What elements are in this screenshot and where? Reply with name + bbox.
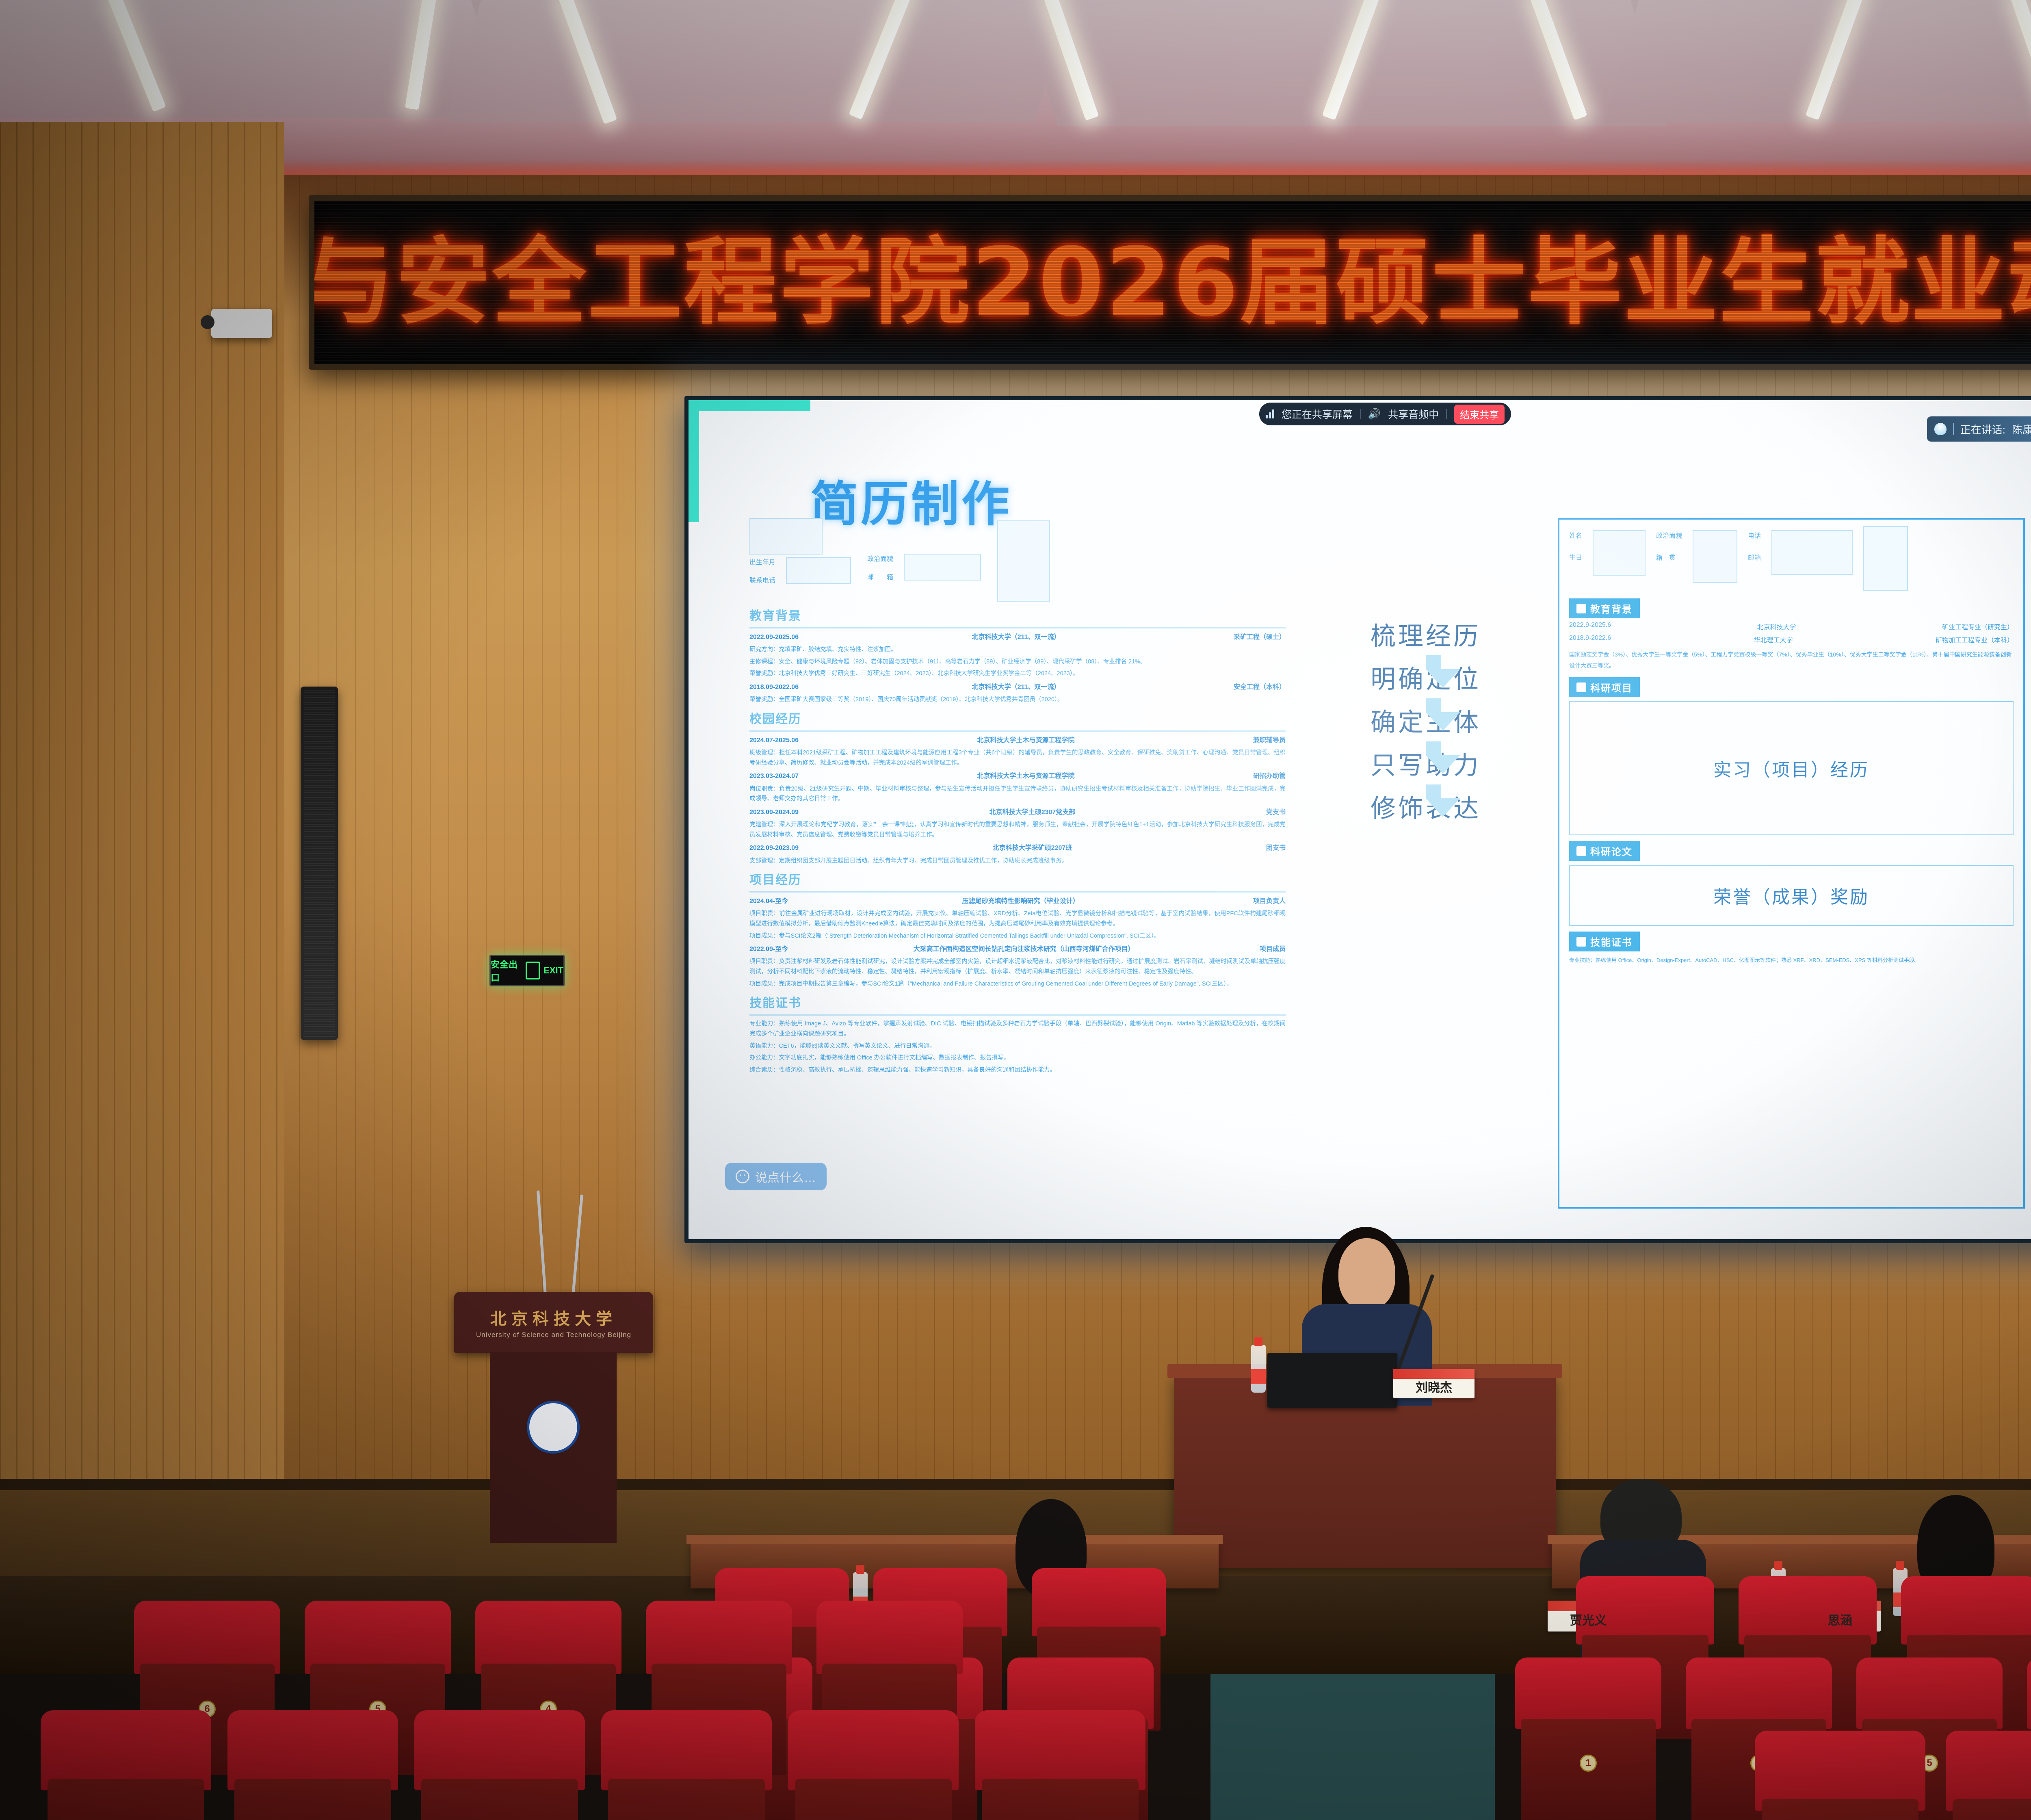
section-chip: 教育背景 xyxy=(1569,598,1640,618)
resume-left-document: 出生年月 联系电话 政治面貌 邮 箱 xyxy=(749,518,1286,1180)
section-chip: 科研项目 xyxy=(1569,677,1640,697)
section-chip-label: 技能证书 xyxy=(1590,934,1633,949)
avatar-icon xyxy=(1934,423,1947,435)
resume-entry-header: 2022.09-2023.09 北京科技大学采矿硕2207班 团支书 xyxy=(749,843,1286,854)
rule xyxy=(749,1014,1286,1016)
field-label: 电话 xyxy=(1748,530,1761,540)
resume-entry-header: 2023.09-2024.09 北京科技大学土硕2307党支部 党支书 xyxy=(749,807,1286,818)
seat[interactable] xyxy=(1946,1731,2031,1820)
entry-date: 2023.03-2024.07 xyxy=(749,771,799,782)
entry-date: 2023.09-2024.09 xyxy=(749,807,799,818)
entry-role: 项目成员 xyxy=(1260,944,1286,955)
seat[interactable]: 6 xyxy=(975,1710,1145,1820)
resume-bullet: 综合素质：性格沉稳、高效执行、承压抗挫、逻辑思维能力强、能快速学习新知识，具备良… xyxy=(749,1065,1286,1075)
led-banner: 资源与安全工程学院2026届硕士毕业生就业动员会、家长会 xyxy=(309,195,2031,370)
field-box xyxy=(1593,530,1646,576)
resume-entry-header: 2024.07-2025.06 北京科技大学土木与资源工程学院 兼职辅导员 xyxy=(749,735,1286,746)
head xyxy=(1338,1238,1395,1310)
exit-sign: 安全出口 EXIT xyxy=(489,955,565,986)
slide-accent-bar xyxy=(689,400,699,522)
chat-placeholder: 说点什么… xyxy=(755,1168,816,1185)
entry-role: 党支书 xyxy=(1266,807,1286,818)
resume-bullet: 办公能力：文字功底扎实，能够熟练使用 Office 办公软件进行文档编写、数据报… xyxy=(749,1053,1286,1063)
resume-bullet: 项目成果：完成项目中期报告第三章编写，参与SCI论文1篇（"Mechanical… xyxy=(749,979,1286,989)
speaking-name: 陈康宁 xyxy=(2012,422,2031,437)
divider xyxy=(1953,423,1954,435)
entry-org: 北京科技大学土木与资源工程学院 xyxy=(799,735,1253,746)
resume-section-heading: 校园经历 xyxy=(749,709,1286,730)
university-logo xyxy=(527,1401,580,1454)
field-label: 邮箱 xyxy=(1748,552,1761,562)
resume-bullet: 党建管理：深入开展理论和党纪学习教育，落实"三会一课"制度，认真学习和宣传新时代… xyxy=(749,820,1286,840)
entry-org: 北京科技大学土硕2307党支部 xyxy=(799,807,1266,818)
entry-org: 北京科技大学（211、双一流） xyxy=(799,682,1234,693)
entry-org: 压滤尾砂充填特性影响研究（毕业设计） xyxy=(788,896,1253,907)
ceiling-panel xyxy=(446,0,1077,122)
certificate-icon xyxy=(1576,937,1586,947)
education-major: 矿业工程专业（研究生） xyxy=(1942,622,2014,631)
laptop xyxy=(1267,1353,1397,1408)
divider xyxy=(1446,409,1447,419)
led-banner-text: 资源与安全工程学院2026届硕士毕业生就业动员会、家长会 xyxy=(309,235,2031,329)
entry-date: 2022.09-2025.06 xyxy=(749,632,799,643)
education-row: 2022.9-2025.6 北京科技大学 矿业工程专业（研究生） xyxy=(1569,622,2014,631)
speaker-nameplate: 刘晓杰 xyxy=(1393,1369,1475,1398)
podium: 北京科技大学 University of Science and Technol… xyxy=(454,1292,653,1544)
resume-bullet: 班级管理：担任本科2021级采矿工程、矿物加工工程及建筑环境与能源应用工程3个专… xyxy=(749,748,1286,768)
field-box xyxy=(1693,530,1737,583)
podium-panel: 北京科技大学 University of Science and Technol… xyxy=(454,1292,653,1353)
field-label: 政治面貌 xyxy=(1656,530,1682,540)
resume-section-heading: 教育背景 xyxy=(749,606,1286,626)
placeholder-block: 实习（项目）经历 xyxy=(1569,701,2014,835)
field-box xyxy=(786,557,851,584)
entry-org: 北京科技大学（211、双一流） xyxy=(799,632,1234,643)
resume-bullet: 专业能力：熟练使用 Image J、Avizo 等专业软件，掌握声发射试验、DI… xyxy=(749,1019,1286,1039)
entry-date: 2022.09-2023.09 xyxy=(749,843,799,854)
security-camera-icon xyxy=(211,309,272,338)
resume-bullet: 英语能力：CET6，能够阅读英文文献、撰写英文论文、进行日常沟通。 xyxy=(749,1041,1286,1051)
resume-bullet: 主修课程：安全、健康与环境风险专题（92）、岩体加固与支护技术（91）、高等岩石… xyxy=(749,657,1286,667)
entry-role: 采矿工程（硕士） xyxy=(1234,632,1286,643)
skills-text: 专业技能：熟练使用 Office、Origin、Design-Expert、Au… xyxy=(1569,955,2014,966)
seat[interactable] xyxy=(414,1710,585,1820)
field-label: 联系电话 xyxy=(749,575,775,586)
screen-share-toolbar[interactable]: 您正在共享屏幕 🔊 共享音频中 结束共享 xyxy=(1259,403,1511,425)
entry-role: 项目负责人 xyxy=(1253,896,1286,907)
section-chip-label: 教育背景 xyxy=(1590,601,1633,615)
section-chip-label: 科研论文 xyxy=(1590,844,1633,858)
active-speaker-badge: 正在讲话: 陈康宁 xyxy=(1927,416,2031,442)
section-chip: 技能证书 xyxy=(1569,932,1640,951)
slide-accent-bar xyxy=(689,400,810,411)
speaker-icon: 🔊 xyxy=(1368,408,1381,420)
resume-bullet: 项目职责：前往金属矿业进行现场取材，设计并完成室内试验，开展充实仪、单轴压缩试验… xyxy=(749,909,1286,929)
entry-date: 2024.04-至今 xyxy=(749,896,788,907)
entry-role: 安全工程（本科） xyxy=(1234,682,1286,693)
podium-body xyxy=(490,1352,617,1543)
chat-input-pill[interactable]: 说点什么… xyxy=(725,1163,827,1190)
resume-bullet: 研究方向：充填采矿、胶结充填、充实特性、注浆加固。 xyxy=(749,645,1286,655)
exit-sign-cn: 安全出口 xyxy=(491,958,522,984)
photo-box xyxy=(1863,526,1908,591)
sharing-status-label: 您正在共享屏幕 xyxy=(1282,407,1353,421)
audience-desk-top xyxy=(686,1535,1223,1544)
field-label: 政治面貌 xyxy=(867,554,893,565)
rule xyxy=(749,730,1286,732)
slide-canvas: 您正在共享屏幕 🔊 共享音频中 结束共享 正在讲话: 陈康宁 简历制作 xyxy=(689,400,2031,1239)
resume-section-heading: 技能证书 xyxy=(749,993,1286,1014)
seat[interactable]: 5 xyxy=(788,1710,959,1820)
entry-date: 2022.09-至今 xyxy=(749,944,788,955)
field-label: 生日 xyxy=(1569,552,1582,562)
running-man-icon xyxy=(526,962,540,979)
emoji-icon[interactable] xyxy=(736,1170,749,1183)
entry-date: 2018.09-2022.06 xyxy=(749,682,799,693)
entry-org: 北京科技大学土木与资源工程学院 xyxy=(799,771,1253,782)
resume-right-template: 姓名 生日 政治面貌 籍 贯 电话 xyxy=(1558,518,2025,1209)
section-chip-label: 科研项目 xyxy=(1590,680,1633,694)
resume-entry-header: 2018.09-2022.06 北京科技大学（211、双一流） 安全工程（本科） xyxy=(749,682,1286,693)
education-major: 矿物加工工程专业（本科） xyxy=(1936,635,2014,644)
photo-box xyxy=(997,520,1050,602)
audience-name: 思涵 xyxy=(1828,1610,1852,1628)
awards-text: 国家励志奖学金（3%）、优秀大学生一等奖学金（5%）、工程力学竞赛校级一等奖（7… xyxy=(1569,649,2014,671)
lecture-hall-photo: 资源与安全工程学院2026届硕士毕业生就业动员会、家长会 安全出口 EXIT 您… xyxy=(0,0,2031,1820)
speaker-name: 刘晓杰 xyxy=(1416,1378,1452,1395)
resume-bullet: 岗位职责：负责20级、21级研究生开题、中期、毕业材料审核与整理，参与招生宣传活… xyxy=(749,784,1286,804)
resume-entry-header: 2022.09-至今 大采高工作面构造区空间长钻孔定向注浆技术研究（山西寺河煤矿… xyxy=(749,944,1286,955)
audience-name: 贾光义 xyxy=(1570,1610,1607,1628)
resume-entry-header: 2023.03-2024.07 北京科技大学土木与资源工程学院 研招办助管 xyxy=(749,771,1286,782)
resume-bullet: 荣誉奖励：全国采矿大赛国家级三等奖（2019）、国庆70周年活动贡献奖（2019… xyxy=(749,695,1286,705)
podium-university-en: University of Science and Technology Bei… xyxy=(476,1331,631,1339)
resume-entry-header: 2024.04-至今 压滤尾砂充填特性影响研究（毕业设计） 项目负责人 xyxy=(749,896,1286,907)
rule xyxy=(749,627,1286,628)
field-label: 姓名 xyxy=(1569,530,1582,540)
resume-bullet: 支部管理：定期组织团支部开展主题团日活动、组织青年大学习、完成日常团员管理及推优… xyxy=(749,856,1286,866)
graduation-cap-icon xyxy=(1576,604,1586,613)
section-chip: 科研论文 xyxy=(1569,841,1640,861)
projection-screen: 您正在共享屏幕 🔊 共享音频中 结束共享 正在讲话: 陈康宁 简历制作 xyxy=(684,396,2031,1243)
field-label: 邮 箱 xyxy=(867,572,893,583)
field-box xyxy=(749,518,823,555)
resume-bullet: 项目职责：负责注浆材料研发及岩石体性能测试研究，设计试验方案并完成全部室内实验，… xyxy=(749,957,1286,977)
wall-speaker xyxy=(301,687,338,1040)
clipboard-icon xyxy=(1576,682,1586,692)
entry-org: 北京科技大学采矿硕2207班 xyxy=(799,843,1266,854)
entry-role: 兼职辅导员 xyxy=(1253,735,1286,746)
education-date: 2018.9-2022.6 xyxy=(1569,635,1611,644)
divider xyxy=(1360,409,1361,419)
seat[interactable]: 1 xyxy=(1515,1657,1661,1820)
speaking-label: 正在讲话: xyxy=(1960,422,2005,437)
entry-date: 2024.07-2025.06 xyxy=(749,735,799,746)
seat[interactable] xyxy=(41,1710,211,1820)
entry-org: 大采高工作面构造区空间长钻孔定向注浆技术研究（山西寺河煤矿合作项目） xyxy=(788,944,1260,955)
entry-role: 团支书 xyxy=(1266,843,1286,854)
flow-step: 梳理经历 xyxy=(1338,615,1513,652)
education-school: 华北理工大学 xyxy=(1754,635,1793,644)
signal-bars-icon xyxy=(1266,409,1274,418)
rule xyxy=(749,891,1286,893)
podium-university-cn: 北京科技大学 xyxy=(490,1306,617,1329)
education-school: 北京科技大学 xyxy=(1757,622,1796,631)
resume-bullet: 项目成果：参与SCI论文2篇（"Strength Deterioration M… xyxy=(749,931,1286,941)
gear-icon xyxy=(1576,846,1586,856)
education-date: 2022.9-2025.6 xyxy=(1569,622,1611,631)
resume-entry-header: 2022.09-2025.06 北京科技大学（211、双一流） 采矿工程（硕士） xyxy=(749,632,1286,643)
field-label: 籍 贯 xyxy=(1656,552,1682,562)
seat[interactable]: 4 xyxy=(601,1710,772,1820)
resume-flow-diagram: 梳理经历 明确定位 确定主体 只写助力 修饰表达 xyxy=(1338,615,1513,824)
seat[interactable]: 1 xyxy=(1755,1731,1925,1820)
field-label: 出生年月 xyxy=(749,557,775,568)
placeholder-block: 荣誉（成果）奖励 xyxy=(1569,865,2014,926)
seat[interactable] xyxy=(227,1710,398,1820)
resume-section-heading: 项目经历 xyxy=(749,870,1286,890)
resume-bullet: 荣誉奖励：北京科技大学优秀三好研究生、三好研究生（2024、2023）、北京科技… xyxy=(749,669,1286,679)
exit-sign-en: EXIT xyxy=(543,965,563,976)
field-box xyxy=(904,554,981,581)
entry-role: 研招办助管 xyxy=(1253,771,1286,782)
end-share-button[interactable]: 结束共享 xyxy=(1454,405,1505,424)
center-aisle xyxy=(1210,1674,1495,1820)
field-box xyxy=(1771,530,1853,575)
water-bottle xyxy=(1251,1345,1266,1393)
audio-share-label: 共享音频中 xyxy=(1388,407,1439,421)
education-row: 2018.9-2022.6 华北理工大学 矿物加工工程专业（本科） xyxy=(1569,635,2014,644)
seat-number: 1 xyxy=(1580,1755,1597,1772)
ceiling-panel xyxy=(1014,0,1667,126)
stage-edge xyxy=(0,1479,2031,1490)
